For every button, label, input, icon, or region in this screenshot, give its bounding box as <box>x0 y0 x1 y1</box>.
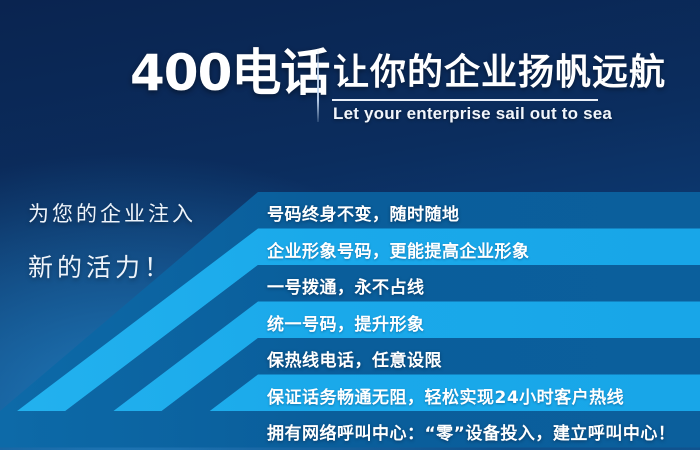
feature-item-label: 保证话务畅通无阻，轻松实现24小时客户热线 <box>267 383 624 408</box>
feature-list: 号码终身不变，随时随地企业形象号码，更能提高企业形象一号拨通，永不占线统一号码，… <box>0 0 700 450</box>
feature-item-label: 统一号码，提升形象 <box>267 310 425 335</box>
feature-item-label: 一号拨通，永不占线 <box>267 273 425 298</box>
feature-item-label: 企业形象号码，更能提高企业形象 <box>267 237 530 262</box>
banner-image: 400电话 让你的企业扬帆远航 Let your enterprise sail… <box>0 0 700 450</box>
feature-item-label: 保热线电话，任意设限 <box>267 346 442 371</box>
feature-item-label: 号码终身不变，随时随地 <box>267 200 460 225</box>
feature-item-label: 拥有网络呼叫中心：“零”设备投入，建立呼叫中心！ <box>267 419 675 444</box>
